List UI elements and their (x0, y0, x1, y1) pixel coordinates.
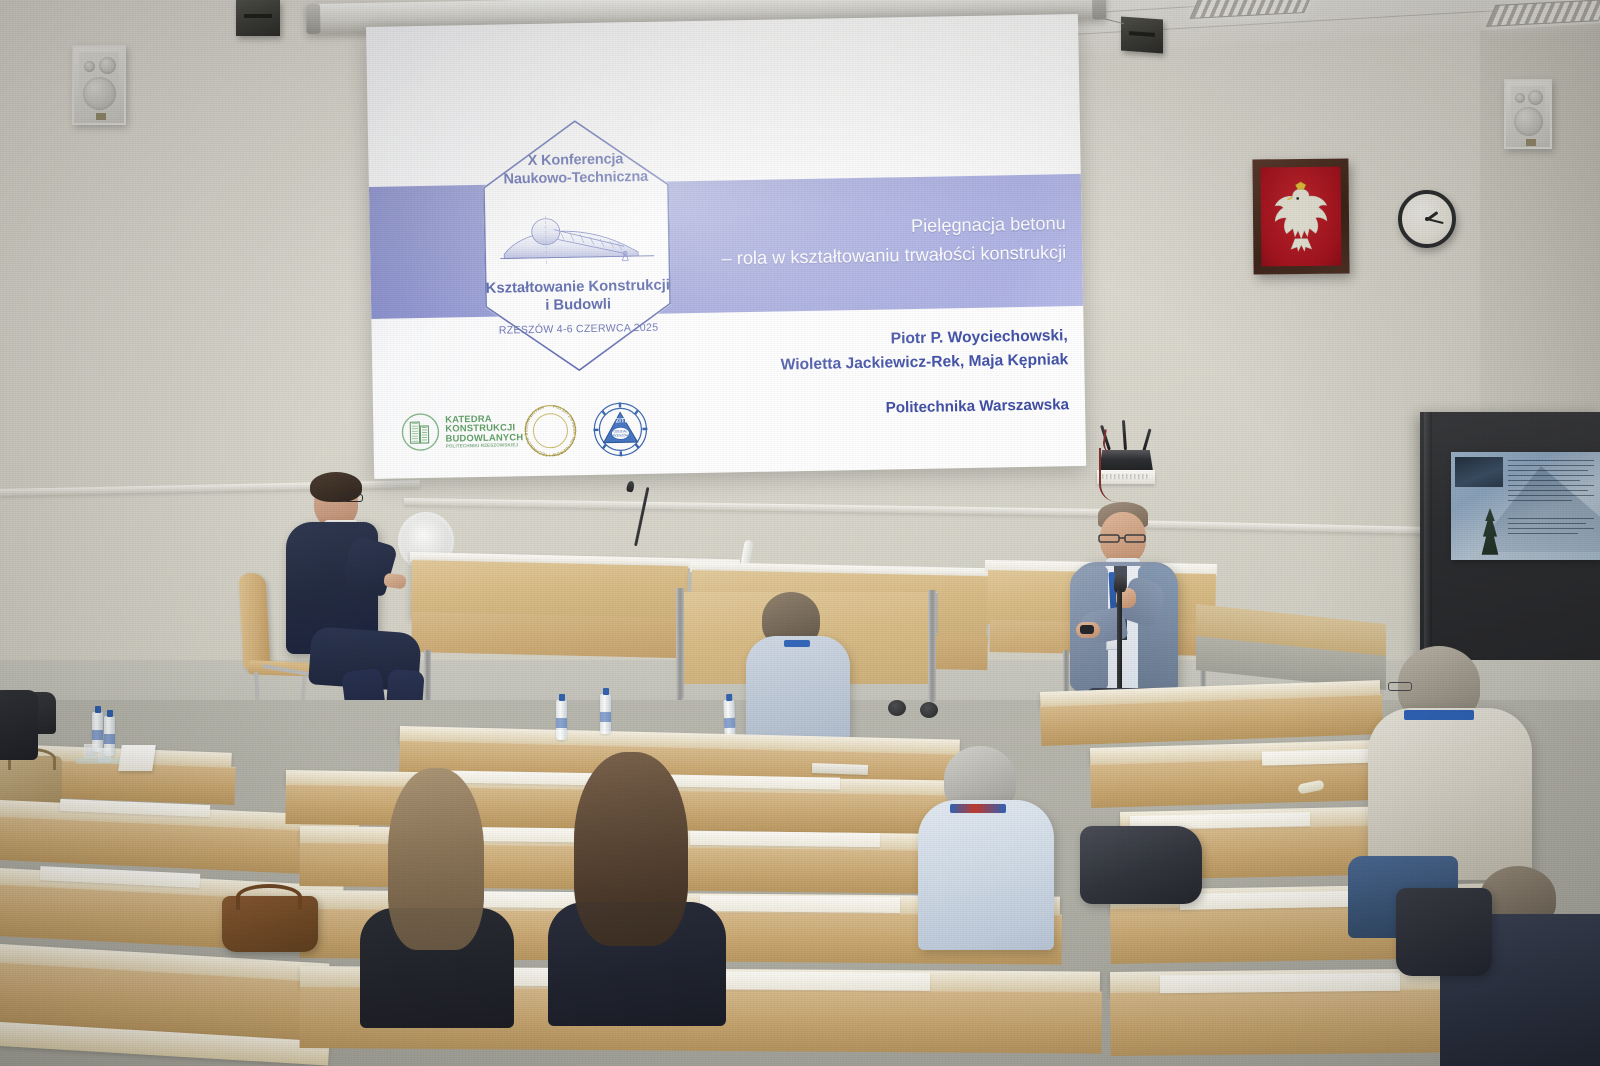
polish-eagle-icon (1270, 177, 1333, 256)
audience-woman-left (366, 768, 506, 1018)
backpack (1396, 888, 1492, 976)
audience-hair-overlay (388, 768, 484, 950)
slide-affiliation: Politechnika Warszawska (639, 396, 1069, 421)
right-wall (1480, 0, 1600, 430)
bench-foot-cap (920, 702, 938, 718)
drinking-glass (84, 744, 97, 758)
lectern-desk-lower-front (411, 612, 690, 658)
emblem-line3: Kształtowanie Konstrukcji (477, 276, 679, 298)
emblem-conference-name: X Konferencja Naukowo-Techniczna (480, 150, 671, 189)
audience-woman-center (556, 752, 716, 1022)
poster-text-line (1508, 480, 1580, 481)
poster-text-line (1508, 518, 1594, 519)
speaker-brand-chip (1526, 139, 1536, 146)
slide-authors: Piotr P. Woyciechowski, Wioletta Jackiew… (638, 324, 1069, 380)
bench-post (676, 588, 684, 698)
poster-text-line (1508, 485, 1594, 486)
clock-minute-hand (1427, 218, 1444, 224)
pzitb-circular-logo: POLSKI ZWIĄZEK INŻYNIERÓW I TECHNIKÓW BU… (523, 403, 578, 458)
poster-text-line (1508, 523, 1586, 524)
projection-screen: X Konferencja Naukowo-Techniczna (366, 14, 1086, 479)
handbag-brown-strap (236, 884, 302, 910)
wooden-chair-back (239, 572, 271, 669)
kkb-logo-text: KATEDRA KONSTRUKCJI BUDOWLANYCH POLITECH… (445, 413, 523, 449)
slide-sponsor-logos: KATEDRA KONSTRUKCJI BUDOWLANYCH POLITECH… (401, 399, 692, 466)
notebook (812, 763, 868, 775)
emblem-red-field (1260, 167, 1341, 267)
pzitb-rzeszow-gear-logo: ODDZIAŁ RZESZÓW PZITB (591, 400, 650, 459)
desk-writing-surface (700, 895, 900, 913)
presenter-clicker (1080, 625, 1094, 634)
desk-writing-surface (1160, 973, 1400, 994)
desk-writing-surface (700, 971, 930, 991)
svg-text:PZITB: PZITB (612, 418, 630, 424)
audience-cream-shirt (1368, 708, 1532, 880)
speaker-tweeter-icon (1515, 93, 1525, 103)
audience-lanyard (950, 804, 1006, 813)
katedra-konstrukcji-budowlanych-logo: KATEDRA KONSTRUKCJI BUDOWLANYCH POLITECH… (401, 410, 523, 452)
speaker-midrange-icon (1528, 90, 1543, 105)
wall-speaker-left (72, 45, 126, 125)
emblem-theme: Kształtowanie Konstrukcji i Budowli (477, 276, 680, 316)
lecture-hall-photo: X Konferencja Naukowo-Techniczna (0, 0, 1600, 1066)
audience-grey-haired-man (920, 746, 1060, 966)
audience-shirt (918, 800, 1054, 950)
bench-foot-cap (888, 700, 906, 716)
projector-mount-right (1121, 17, 1163, 54)
bridge-structure-icon (497, 212, 656, 273)
poster-text-line (1508, 528, 1594, 529)
poster-text-line (1508, 533, 1578, 534)
water-bottle (600, 694, 611, 734)
glass-tray (76, 758, 120, 764)
speaker-brand-chip (96, 113, 106, 120)
audience-lanyard (1404, 710, 1474, 720)
wall-speaker-right (1504, 79, 1552, 149)
speaker-tweeter-icon (84, 61, 95, 72)
poster-header-photo (1455, 457, 1503, 487)
desk-writing-surface (690, 831, 880, 847)
poster-text-line (1508, 495, 1594, 496)
presenter-glasses-icon (1098, 530, 1148, 539)
building-circle-icon (401, 412, 440, 453)
poster-text-line (1508, 475, 1594, 476)
speaker-woofer-icon (1514, 107, 1543, 136)
poster-text-line (1508, 465, 1594, 466)
poster-text-line (1508, 460, 1594, 461)
polish-eagle-emblem-frame (1252, 159, 1349, 275)
audience-hair-overlay (574, 752, 688, 946)
microphone-body (1117, 590, 1122, 700)
conference-poster (1451, 452, 1600, 560)
poster-text-line (1508, 470, 1588, 471)
screen-roller-cap (306, 4, 321, 34)
poster-text-line (1508, 490, 1588, 491)
audience-glasses-icon (1388, 682, 1412, 691)
projector-mount-left (236, 0, 280, 36)
svg-text:RZESZÓW: RZESZÓW (613, 432, 629, 437)
audience-lanyard (784, 640, 810, 647)
emblem-line2: Naukowo-Techniczna (481, 168, 671, 189)
speaker-midrange-icon (99, 57, 116, 74)
poster-text-line (1508, 500, 1572, 501)
router-cable (1099, 448, 1117, 502)
screen-roller-cap (1092, 0, 1107, 20)
chairperson-glasses-icon (343, 494, 363, 502)
name-card (118, 745, 156, 771)
slide-title: Pielęgnacja betonu – rola w kształtowani… (636, 209, 1067, 276)
bench-post (928, 590, 936, 702)
poster-background-image (1493, 466, 1600, 552)
water-bottle (556, 700, 567, 740)
jacket-draped (1080, 826, 1202, 904)
speaker-woofer-icon (83, 77, 116, 110)
kkb-subline: POLITECHNIKI RZESZOWSKIEJ (446, 442, 524, 449)
audience-partial-left (0, 690, 38, 760)
emblem-line4: i Budowli (477, 294, 679, 316)
